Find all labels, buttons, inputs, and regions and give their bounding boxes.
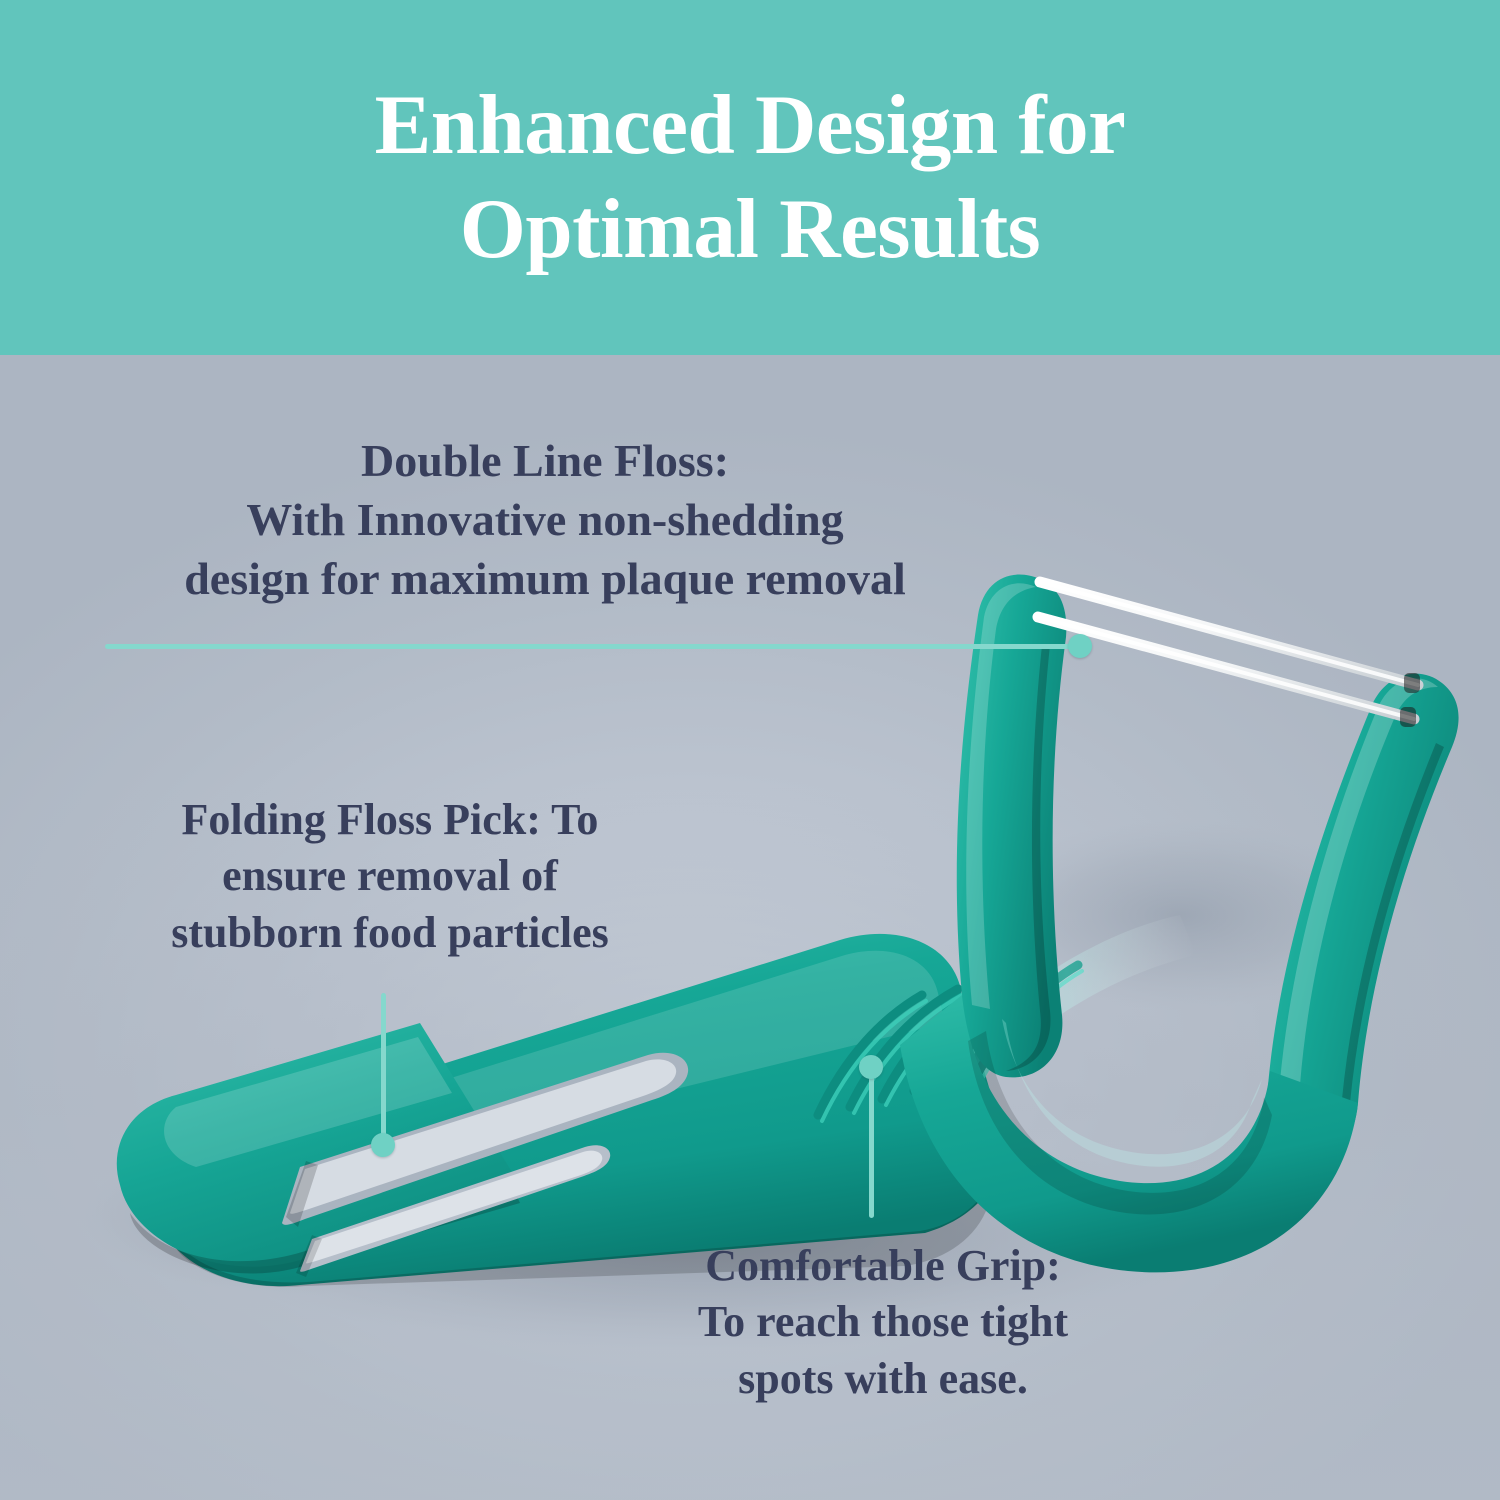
leader-line: [381, 993, 386, 1145]
callout-comfortable-grip: Comfortable Grip: To reach those tight s…: [618, 1238, 1148, 1407]
product-grip-ridges: [818, 965, 1082, 1121]
leader-dot: [1068, 634, 1092, 658]
page-title-line-1: Enhanced Design for: [375, 74, 1126, 178]
leader-line: [869, 1073, 874, 1218]
leader-line: [105, 644, 1080, 649]
callout-double-line-floss: Double Line Floss: With Innovative non-s…: [95, 432, 995, 609]
callout-folding-floss-pick: Folding Floss Pick: To ensure removal of…: [95, 792, 685, 961]
product-arm-right: [1267, 674, 1459, 1166]
leader-dot: [371, 1133, 395, 1157]
leader-dot: [859, 1055, 883, 1079]
product-floss-strands: [1038, 582, 1420, 727]
grip-highlight: [960, 915, 1196, 1077]
product-arm-bridge: [900, 995, 1358, 1272]
infographic-canvas: Enhanced Design for Optimal Results: [0, 0, 1500, 1500]
product-handle: [154, 934, 1002, 1287]
product-arm-left: [957, 575, 1067, 1078]
page-title-line-2: Optimal Results: [460, 178, 1040, 282]
product-folding-pick-tip: [117, 1023, 688, 1277]
header-banner: Enhanced Design for Optimal Results: [0, 0, 1500, 355]
